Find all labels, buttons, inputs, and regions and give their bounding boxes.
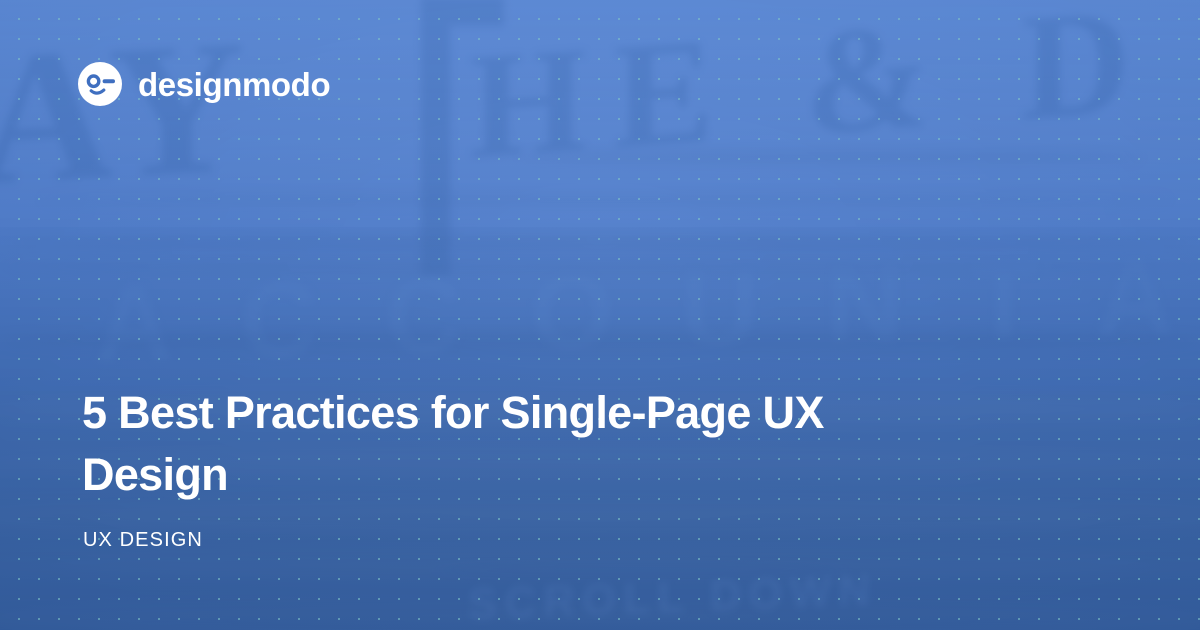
social-share-card: AY HE & D ⎡ ACCOUNTANTS SCROLL DOWN xyxy=(0,0,1200,630)
article-title: 5 Best Practices for Single-Page UX Desi… xyxy=(82,382,922,506)
brand-wordmark: designmodo xyxy=(138,68,330,101)
brand-lockup[interactable]: designmodo xyxy=(78,62,330,106)
designmodo-face-icon xyxy=(78,62,122,106)
card-content: designmodo 5 Best Practices for Single-P… xyxy=(0,0,1200,630)
article-category-label[interactable]: UX DESIGN xyxy=(83,530,203,550)
